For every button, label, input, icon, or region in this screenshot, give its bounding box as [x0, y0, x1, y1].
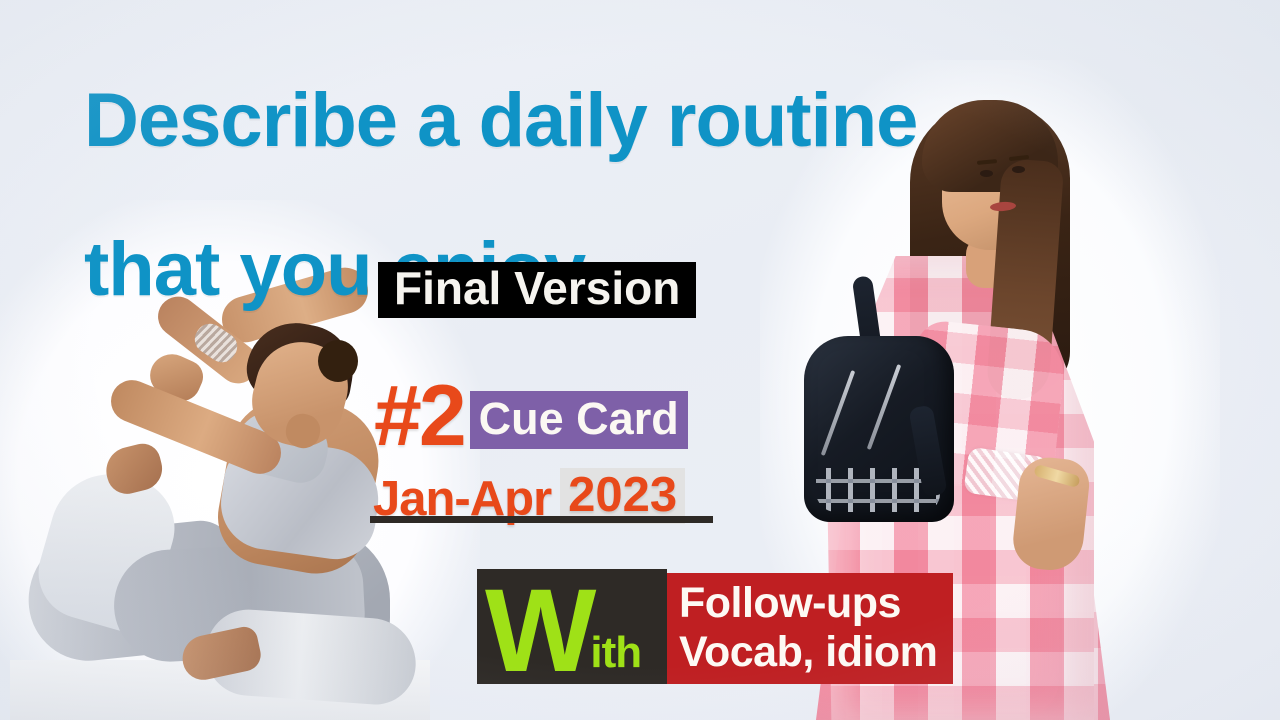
final-version-badge: Final Version [378, 262, 696, 318]
with-word-box: W ith [477, 569, 667, 684]
headline-line-1: Describe a daily routine [84, 85, 1154, 156]
followups-red-box: Follow-ups Vocab, idiom [667, 573, 953, 684]
with-letter-w: W [485, 584, 592, 678]
thumbnail-canvas: Describe a daily routine that you enjoy … [0, 0, 1280, 720]
with-letters-ith: ith [590, 632, 641, 674]
cue-card-label: Cue Card [470, 391, 688, 449]
cue-card-number: #2 [374, 380, 464, 453]
cue-card-row: #2 Cue Card [374, 380, 688, 453]
followups-line-1: Follow-ups [679, 579, 937, 628]
followups-line-2: Vocab, idiom [679, 628, 937, 677]
date-underline-bar [370, 516, 713, 523]
page-title: Describe a daily routine that you enjoy [84, 14, 1154, 377]
with-followups-block: W ith Follow-ups Vocab, idiom [477, 569, 953, 684]
